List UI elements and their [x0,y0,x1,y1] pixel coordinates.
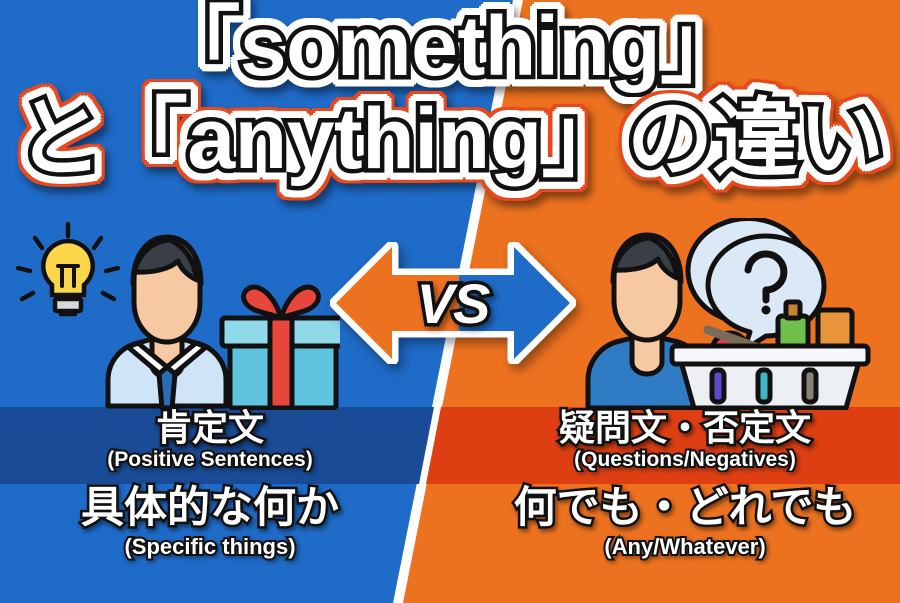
left-caption-1-jp: 肯定文 [0,409,425,447]
left-caption-2-jp: 具体的な何か [0,486,425,531]
lightbulb-icon [18,224,118,314]
left-caption-1-en: (Positive Sentences) [0,449,425,471]
left-illustration-group [0,218,340,410]
gift-box-icon [222,287,340,408]
title-block: 「something」 と「anything」の違い [0,0,900,215]
right-caption-1-jp: 疑問文・否定文 [470,409,900,447]
left-caption-row-2: 具体的な何か (Specific things) [0,486,425,558]
right-caption-row-1: 疑問文・否定文 (Questions/Negatives) [470,409,900,471]
title-line-1: 「something」 [0,4,900,88]
right-illustration-group [560,218,900,410]
thumbnail-canvas: VS 「something」 と「anything」の違い 肯定文 (Posit… [0,0,900,603]
vs-text-label: VS [330,242,576,364]
right-caption-row-2: 何でも・どれでも (Any/Whatever) [470,486,900,558]
right-caption-2-jp: 何でも・どれでも [470,486,900,531]
right-caption-2-en: (Any/Whatever) [470,535,900,558]
person-suit-icon [108,237,226,408]
left-caption-row-1: 肯定文 (Positive Sentences) [0,409,425,471]
right-caption-1-en: (Questions/Negatives) [470,449,900,471]
title-line-2: と「anything」の違い [0,96,900,182]
left-caption-2-en: (Specific things) [0,535,425,558]
